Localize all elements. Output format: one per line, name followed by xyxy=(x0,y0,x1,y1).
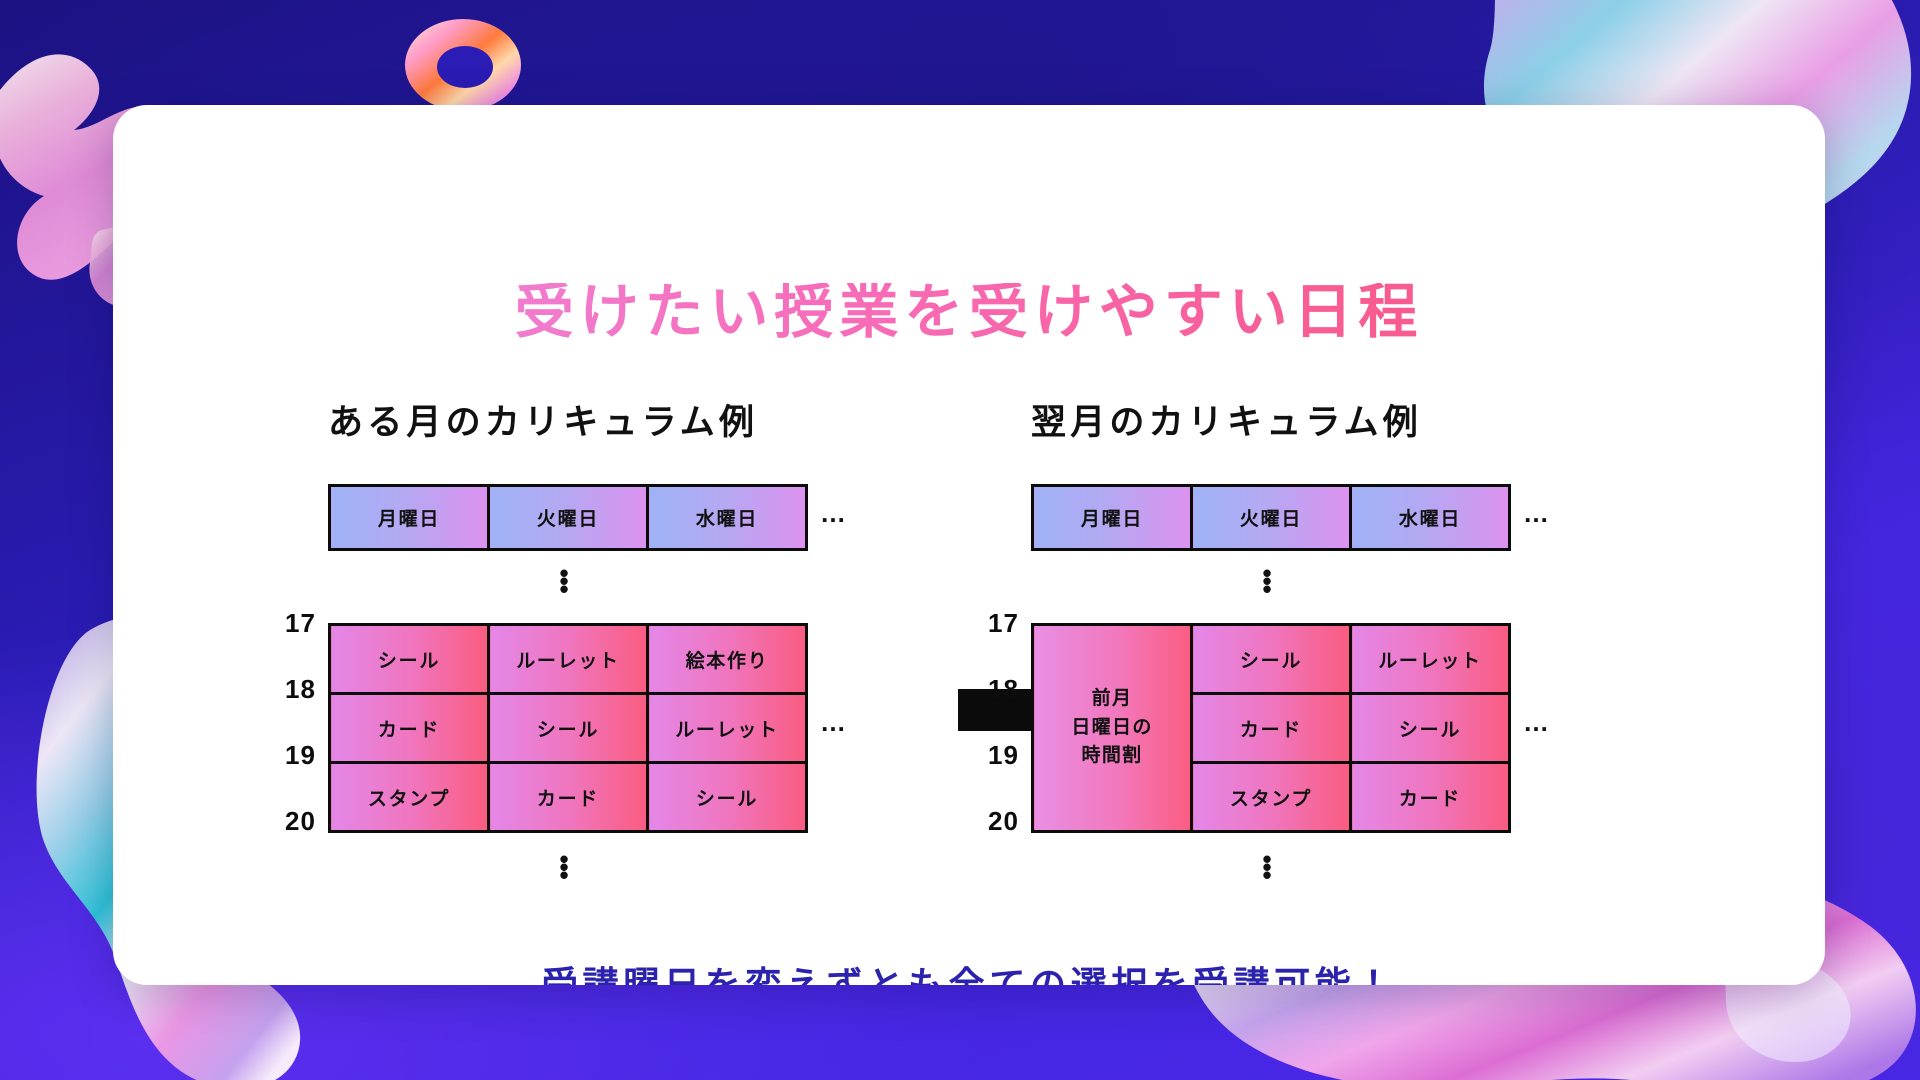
hour-label: 18 xyxy=(973,673,1019,739)
table-row: カード シール ルーレット xyxy=(330,694,807,763)
right-vdots-top: • • • xyxy=(1031,569,1503,593)
left-day-header-table: 月曜日 火曜日 水曜日 xyxy=(328,484,808,551)
schedule-cell[interactable]: スタンプ xyxy=(1192,763,1351,832)
schedule-cell[interactable]: カード xyxy=(1351,763,1510,832)
right-schedule-table: 前月 日曜日の 時間割 シール ルーレット カード シール スタンプ カード xyxy=(1031,623,1511,833)
schedule-cell[interactable]: スタンプ xyxy=(330,763,489,832)
right-hour-axis: 17 18 19 20 xyxy=(973,607,1019,871)
merged-line-3: 時間割 xyxy=(1082,745,1143,766)
schedule-cell[interactable]: カード xyxy=(330,694,489,763)
table-row: 月曜日 火曜日 水曜日 xyxy=(1033,486,1510,550)
footer-headline: 受講曜日を変えずとも全ての選択を受講可能！ xyxy=(113,967,1825,985)
dot: • xyxy=(328,871,800,879)
hour-label: 20 xyxy=(973,805,1019,871)
table-row: 月曜日 火曜日 水曜日 xyxy=(330,486,807,550)
left-day-header-wrap: 月曜日 火曜日 水曜日 … xyxy=(328,484,913,551)
right-day-header-wrap: 月曜日 火曜日 水曜日 … xyxy=(1031,484,1633,551)
day-header-cell[interactable]: 月曜日 xyxy=(1033,486,1192,550)
day-header-cell[interactable]: 水曜日 xyxy=(1351,486,1510,550)
right-schedule-wrap: 17 18 19 20 前月 日曜日の 時間割 シール ルーレット カード xyxy=(1031,623,1633,833)
right-header-ellipsis: … xyxy=(1523,498,1553,529)
hour-label: 17 xyxy=(270,607,316,673)
dot: • xyxy=(1031,871,1503,879)
previous-month-sunday-cell[interactable]: 前月 日曜日の 時間割 xyxy=(1033,625,1192,832)
schedule-cell[interactable]: ルーレット xyxy=(1351,625,1510,694)
schedule-cell[interactable]: カード xyxy=(1192,694,1351,763)
merged-line-2: 日曜日の xyxy=(1071,717,1152,738)
schedule-cell[interactable]: 絵本作り xyxy=(648,625,807,694)
right-vdots-bottom: • • • xyxy=(1031,855,1503,879)
left-vdots-top: • • • xyxy=(328,569,800,593)
decorative-torus xyxy=(398,10,528,120)
schedule-cell[interactable]: シール xyxy=(1351,694,1510,763)
dot: • xyxy=(328,585,800,593)
schedule-cell[interactable]: カード xyxy=(489,763,648,832)
hour-label: 20 xyxy=(270,805,316,871)
table-row: シール ルーレット 絵本作り xyxy=(330,625,807,694)
hour-label: 17 xyxy=(973,607,1019,673)
table-row: スタンプ カード シール xyxy=(330,763,807,832)
left-body-ellipsis: … xyxy=(820,707,850,738)
table-row: 前月 日曜日の 時間割 シール ルーレット xyxy=(1033,625,1510,694)
schedule-cell[interactable]: シール xyxy=(330,625,489,694)
day-header-cell[interactable]: 火曜日 xyxy=(489,486,648,550)
right-day-header-table: 月曜日 火曜日 水曜日 xyxy=(1031,484,1511,551)
hour-label: 19 xyxy=(270,739,316,805)
schedule-cell[interactable]: ルーレット xyxy=(648,694,807,763)
day-header-cell[interactable]: 月曜日 xyxy=(330,486,489,550)
left-schedule-wrap: 17 18 19 20 シール ルーレット 絵本作り カード シール ルーレット… xyxy=(328,623,913,833)
left-vdots-bottom: • • • xyxy=(328,855,800,879)
panel-current-month: ある月のカリキュラム例 月曜日 火曜日 水曜日 … • • • 17 18 19 xyxy=(273,405,913,879)
schedule-cell[interactable]: シール xyxy=(489,694,648,763)
hour-label: 18 xyxy=(270,673,316,739)
dot: • xyxy=(1031,585,1503,593)
panel-right-heading: 翌月のカリキュラム例 xyxy=(1031,405,1633,440)
left-header-ellipsis: … xyxy=(820,498,850,529)
right-body-ellipsis: … xyxy=(1523,707,1553,738)
panel-left-heading: ある月のカリキュラム例 xyxy=(328,405,913,440)
schedule-cell[interactable]: シール xyxy=(1192,625,1351,694)
panel-next-month: 翌月のカリキュラム例 月曜日 火曜日 水曜日 … • • • 17 18 19 … xyxy=(993,405,1633,879)
left-schedule-table: シール ルーレット 絵本作り カード シール ルーレット スタンプ カード シー… xyxy=(328,623,808,833)
schedule-cell[interactable]: シール xyxy=(648,763,807,832)
hour-label: 19 xyxy=(973,739,1019,805)
page-title: 受けたい授業を受けやすい日程 xyxy=(113,283,1825,342)
day-header-cell[interactable]: 水曜日 xyxy=(648,486,807,550)
schedule-cell[interactable]: ルーレット xyxy=(489,625,648,694)
content-card: 受けたい授業を受けやすい日程 ある月のカリキュラム例 月曜日 火曜日 水曜日 …… xyxy=(113,105,1825,985)
left-hour-axis: 17 18 19 20 xyxy=(270,607,316,871)
merged-line-1: 前月 xyxy=(1092,688,1133,709)
day-header-cell[interactable]: 火曜日 xyxy=(1192,486,1351,550)
